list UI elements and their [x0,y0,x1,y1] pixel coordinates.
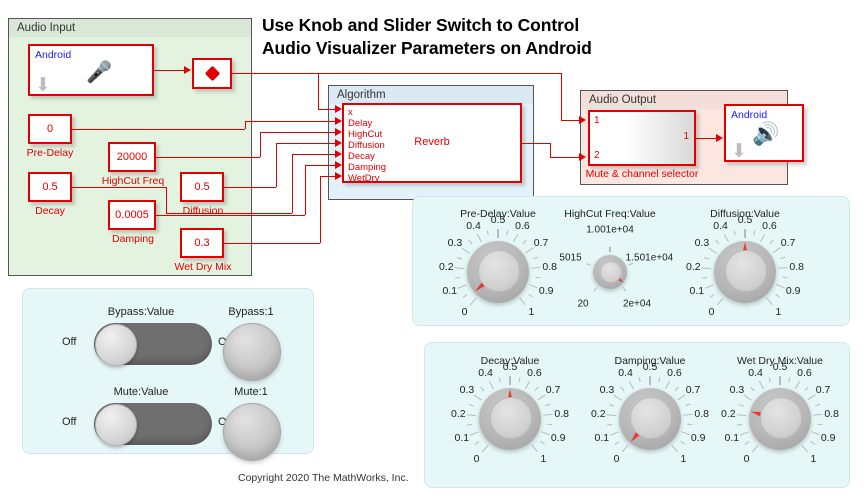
label-pre-delay: Pre-Delay [16,147,84,159]
knob-tick-minor [528,294,533,298]
knob-tick-label: 0 [474,453,480,465]
knob-tick-minor [609,404,614,407]
knob-tick-label: 0.2 [439,261,454,273]
knob-tick-label: 0.4 [618,367,633,379]
knob-tick [586,263,591,266]
label-highcut-freq: HighCut Freq [90,175,176,187]
knob-tick-minor [499,377,502,382]
knob-highcut-freq-dial[interactable]: 2050151.001e+041.501e+042e+04 [540,224,680,320]
knob-tick-label: 0.5 [773,361,788,373]
knob-tick-label: 0.1 [724,432,739,444]
knob-tick-label: 0.6 [527,367,542,379]
knob-cap[interactable] [760,397,802,439]
knob-tick [779,267,788,269]
knob-tick-label: 0.4 [713,220,728,232]
knob-tick-minor [535,387,539,392]
knob-tick-minor [704,257,709,260]
knob-tick [609,247,610,252]
android-audio-playback-block[interactable]: Android 🔊 ⬇ [724,104,804,162]
knob-tick-label: 0.6 [797,367,812,379]
constant-block-wet-dry-mix[interactable]: 0.3 [180,228,224,258]
knob-tick [519,298,526,306]
wire-switch-to-out1-vert [561,73,562,120]
knob-tick-label: 0.3 [730,384,745,396]
slider-switch-mute-off-label: Off [62,416,76,428]
title-line-1: Use Knob and Slider Switch to Control [262,14,682,37]
reverb-subsystem-block[interactable]: Reverb x Delay HighCut Diffusion Decay D… [342,103,522,183]
knob-tick-label: 0.4 [748,367,763,379]
knob-tick-minor [675,387,679,392]
download-arrow-icon: ⬇ [35,76,51,95]
slider-switch-mute-title: Mute:Value [66,386,216,398]
knob-tick-minor [545,404,550,407]
knob-tick-minor [737,424,742,426]
slider-switch-mute-handle[interactable] [95,404,137,446]
lamp-bypass-indicator [223,323,281,381]
wire-switch-out [232,73,561,74]
reverb-port-x: x [348,107,386,118]
wire-predelay-v [245,121,246,129]
knob-cap[interactable] [600,261,622,283]
knob-tick [744,229,745,238]
knob-tick-label: 0.3 [448,237,463,249]
knob-tick-minor [457,257,462,260]
knob-tick-minor [810,441,815,445]
algorithm-panel-title: Algorithm [329,86,533,104]
knob-tick-minor [780,257,785,260]
knob-tick-label: 0.6 [515,220,530,232]
knob-tick-label: 0.6 [762,220,777,232]
android-vendor-label-sink: Android [731,109,767,121]
knob-cap[interactable] [490,397,532,439]
wire-switch-to-out1-horiz [561,120,581,121]
knob-tick-label: 0.4 [466,220,481,232]
knob-tick-label: 0 [462,306,468,318]
knob-tick [622,445,629,453]
knob-tick-minor [475,441,480,445]
knob-tick-label: 1 [541,453,547,465]
knob-tick-minor [716,240,720,245]
knob-tick-label: 0.8 [789,261,804,273]
knob-tick-label: 0.8 [694,408,709,420]
constant-block-damping[interactable]: 0.0005 [108,200,156,230]
wire-switch-to-reverb-x-vert [318,73,319,109]
reverb-port-delay: Delay [348,118,386,129]
knob-tick-label: 0.7 [781,237,796,249]
knob-tick-minor [548,424,553,426]
knob-tick [811,431,820,436]
knob-tick-label: 1 [811,453,817,465]
knob-tick-label: 5015 [559,252,581,263]
knob-tick-minor [702,277,707,279]
knob-tick-label: 0.1 [442,285,457,297]
knob-tick-label: 1.501e+04 [626,252,674,263]
wire-reverb-out-a [522,143,550,144]
knob-tick-minor [469,240,473,245]
knob-tick-label: 0 [744,453,750,465]
knob-tick [509,376,510,385]
slider-switch-bypass-track[interactable] [94,323,212,365]
knob-tick-label: 0.5 [503,361,518,373]
knob-tick-minor [783,277,788,279]
wire-decay-v2 [292,154,293,213]
knob-tick [458,284,467,289]
knob-tick-minor [770,240,774,245]
wire-wetdry-v [320,176,321,243]
reverb-port-wetdry: WetDry [348,173,386,184]
knob-tick [614,394,622,400]
knob-tick [470,431,479,436]
wire-arrow-reverb-highcut [335,128,342,136]
knob-tick-label: 0.7 [816,384,831,396]
wire-arrow-reverb-wetdry [335,172,342,180]
knob-tick [705,284,714,289]
knob-tick [779,376,780,385]
knob-tick-minor [463,294,468,298]
knob-tick-minor [615,441,620,445]
knob-tick-label: 0.2 [721,408,736,420]
wire-arrow-reverb-diffusion [335,139,342,147]
knob-highcut-freq-title: HighCut Freq:Value [540,208,680,220]
knob-tick [529,284,538,289]
knob-tick [455,267,464,269]
knob-tick-label: 0.9 [691,432,706,444]
wire-decay-a [72,187,166,188]
label-decay: Decay [16,205,84,217]
speaker-icon: 🔊 [752,123,779,145]
knob-tick-minor [789,377,792,382]
wire-mux-to-sink [696,138,717,139]
knob-tick [681,431,690,436]
knob-tick [629,381,634,390]
knob-tick [759,381,764,390]
knob-tick [541,431,550,436]
knob-tick-label: 20 [577,299,588,310]
knob-tick [752,445,759,453]
wire-diffusion-b [276,143,340,144]
knob-tick-minor [769,377,772,382]
knob-tick-label: 0.7 [546,384,561,396]
knob-cap[interactable] [478,250,520,292]
knob-tick-label: 1 [529,306,535,318]
wire-wetdry-a [224,243,320,244]
knob-tick [610,431,619,436]
wire-damping-a [156,215,305,216]
knob-tick-minor [815,404,820,407]
knob-tick-label: 0.4 [478,367,493,379]
reverb-port-list: x Delay HighCut Diffusion Decay Damping … [348,107,386,184]
knob-tick [474,394,482,400]
knob-tick-label: 0.1 [454,432,469,444]
knob-tick-label: 0.8 [554,408,569,420]
knob-tick-label: 0 [709,306,715,318]
microphone-icon: 🎤 [86,62,112,83]
knob-tick-label: 0.2 [686,261,701,273]
knob-tick-minor [659,377,662,382]
knob-tick-label: 0.6 [667,367,682,379]
knob-tick [740,431,749,436]
wire-reverb-out-v [550,143,551,157]
knob-tick-minor [481,387,485,392]
knob-damping-dial[interactable]: 00.10.20.30.40.50.60.70.80.91 [580,371,720,467]
reverb-port-diffusion: Diffusion [348,140,386,151]
knob-tick-label: 0.2 [591,408,606,420]
constant-block-pre-delay[interactable]: 0 [28,114,72,144]
wire-arrow-reverb-decay [335,150,342,158]
slider-switch-bypass-off-label: Off [62,336,76,348]
knob-tick [773,247,781,253]
knob-tick [607,414,616,416]
knob-tick [513,234,518,243]
lamp-mute-indicator [223,403,281,461]
knob-diffusion-dial[interactable]: 00.10.20.30.40.50.60.70.80.91 [675,224,815,320]
wire-decay-b [166,213,292,214]
knob-tick-minor [467,424,472,426]
knob-tick [702,267,711,269]
knob-tick-label: 0.1 [689,285,704,297]
audio-input-panel-title: Audio Input [9,19,251,37]
knob-tick [482,445,489,453]
knob-tick-label: 1.001e+04 [586,225,634,236]
knob-tick-minor [455,277,460,279]
wire-arrow-mux-in2 [579,153,586,161]
knob-tick [760,234,765,243]
knob-cap[interactable] [630,397,672,439]
constant-block-decay[interactable]: 0.5 [28,172,72,202]
constant-block-diffusion[interactable]: 0.5 [180,172,224,202]
download-arrow-icon-sink: ⬇ [731,142,747,161]
knob-tick-minor [710,294,715,298]
knob-tick [678,394,686,400]
constant-block-highcut-freq[interactable]: 20000 [108,142,156,172]
knob-tick-minor [639,377,642,382]
knob-tick-label: 0.9 [551,432,566,444]
knob-tick-label: 0.2 [451,408,466,420]
title-line-2: Audio Visualizer Parameters on Android [262,37,682,60]
knob-tick [709,247,717,253]
wire-arrow-sink-in [716,134,723,142]
knob-tick-label: 0.3 [600,384,615,396]
knob-tick-minor [775,294,780,298]
knob-cap[interactable] [725,250,767,292]
knob-tick-minor [818,424,823,426]
knob-tick [525,381,530,390]
red-diamond-icon [204,66,220,82]
lamp-bypass-title: Bypass:1 [220,306,282,318]
knob-tick [467,414,476,416]
knob-tick-label: 1 [776,306,782,318]
wire-highcut-b [260,132,340,133]
knob-tick-minor [540,441,545,445]
knob-tick [477,234,482,243]
reverb-port-decay: Decay [348,151,386,162]
knob-tick [489,381,494,390]
knob-tick [462,247,470,253]
wire-reverb-out-b [550,157,581,158]
knob-tick [684,414,693,416]
knob-tick-label: 1 [681,453,687,465]
knob-tick [531,445,538,453]
wire-arrow-mux-in1 [579,116,586,124]
knob-tick [649,376,650,385]
knob-tick-minor [469,404,474,407]
knob-tick-label: 0.9 [786,285,801,297]
knob-tick-label: 0.1 [594,432,609,444]
wire-diffusion-v [276,143,277,187]
knob-tick-label: 0.9 [821,432,836,444]
wire-predelay-b [245,121,340,122]
knob-tick-minor [607,424,612,426]
knob-tick-minor [519,377,522,382]
knob-tick [808,394,816,400]
knob-tick-label: 0.3 [460,384,475,396]
knob-tick [526,247,534,253]
reverb-port-highcut: HighCut [348,129,386,140]
knob-tick [497,229,498,238]
wire-diffusion-a [224,187,276,188]
knob-tick [795,381,800,390]
knob-tick [776,284,785,289]
knob-tick [717,298,724,306]
copyright-notice: Copyright 2020 The MathWorks, Inc. [238,472,438,484]
knob-tick-label: 0.5 [491,214,506,226]
wire-highcut-v [260,132,261,157]
wire-decay-v1 [166,187,167,213]
knob-tick-minor [507,230,510,235]
wire-highcut-a [156,157,260,158]
knob-tick-minor [487,230,490,235]
slider-switch-bypass-handle[interactable] [95,324,137,366]
knob-tick [766,298,773,306]
wire-mic-to-switch [154,70,184,71]
knob-tick-minor [754,230,757,235]
wire-damping-v [305,165,306,215]
knob-tick [724,234,729,243]
knob-tick-label: 0.5 [643,361,658,373]
knob-wet-dry-mix-dial[interactable]: 00.10.20.30.40.50.60.70.80.91 [710,371,850,467]
wire-arrow-reverb-damping [335,161,342,169]
knob-tick-minor [685,404,690,407]
knob-tick [544,414,553,416]
knob-tick [814,414,823,416]
knob-tick-minor [739,404,744,407]
android-vendor-label: Android [35,49,71,61]
slider-switch-mute-track[interactable] [94,403,212,445]
knob-tick-minor [533,257,538,260]
knob-tick [665,381,670,390]
android-audio-capture-block[interactable]: Android 🎤 ⬇ [28,44,154,96]
knob-tick [744,394,752,400]
knob-tick-minor [805,387,809,392]
knob-tick [801,445,808,453]
knob-tick-label: 0.7 [686,384,701,396]
page-title: Use Knob and Slider Switch to Control Au… [262,14,682,60]
knob-tick-label: 0 [614,453,620,465]
label-wet-dry-mix: Wet Dry Mix [158,261,248,273]
lamp-mute-title: Mute:1 [220,386,282,398]
knob-decay-dial[interactable]: 00.10.20.30.40.50.60.70.80.91 [440,371,580,467]
knob-tick-label: 0.8 [824,408,839,420]
knob-tick-minor [751,387,755,392]
wire-arrow-switch-in [184,66,191,74]
knob-tick-minor [621,387,625,392]
label-mute-channel-selector: Mute & channel selector [578,168,706,180]
manual-switch-block[interactable] [192,58,232,89]
knob-tick [629,263,634,266]
knob-tick [593,287,597,292]
knob-tick-minor [680,441,685,445]
mux-input-1-label: 1 [594,115,600,126]
knob-tick [470,298,477,306]
knob-tick-minor [688,424,693,426]
label-damping: Damping [90,233,176,245]
knob-tick-label: 0.5 [738,214,753,226]
mux-input-2-label: 2 [594,150,600,161]
reverb-port-damping: Damping [348,162,386,173]
knob-tick-minor [745,441,750,445]
knob-tick-label: 2e+04 [623,299,651,310]
mute-channel-selector-block[interactable]: 1 2 1 [588,110,696,166]
knob-tick [671,445,678,453]
knob-tick-minor [523,240,527,245]
knob-tick [622,287,626,292]
mux-output-label: 1 [683,131,689,142]
wire-arrow-reverb-delay [335,117,342,125]
wire-predelay-a [72,129,245,130]
wire-decay-c [292,154,340,155]
knob-tick-minor [734,230,737,235]
wire-arrow-reverb-x [335,105,342,113]
knob-tick [538,394,546,400]
knob-tick [737,414,746,416]
slider-switch-bypass-title: Bypass:Value [66,306,216,318]
knob-tick-label: 0.3 [695,237,710,249]
